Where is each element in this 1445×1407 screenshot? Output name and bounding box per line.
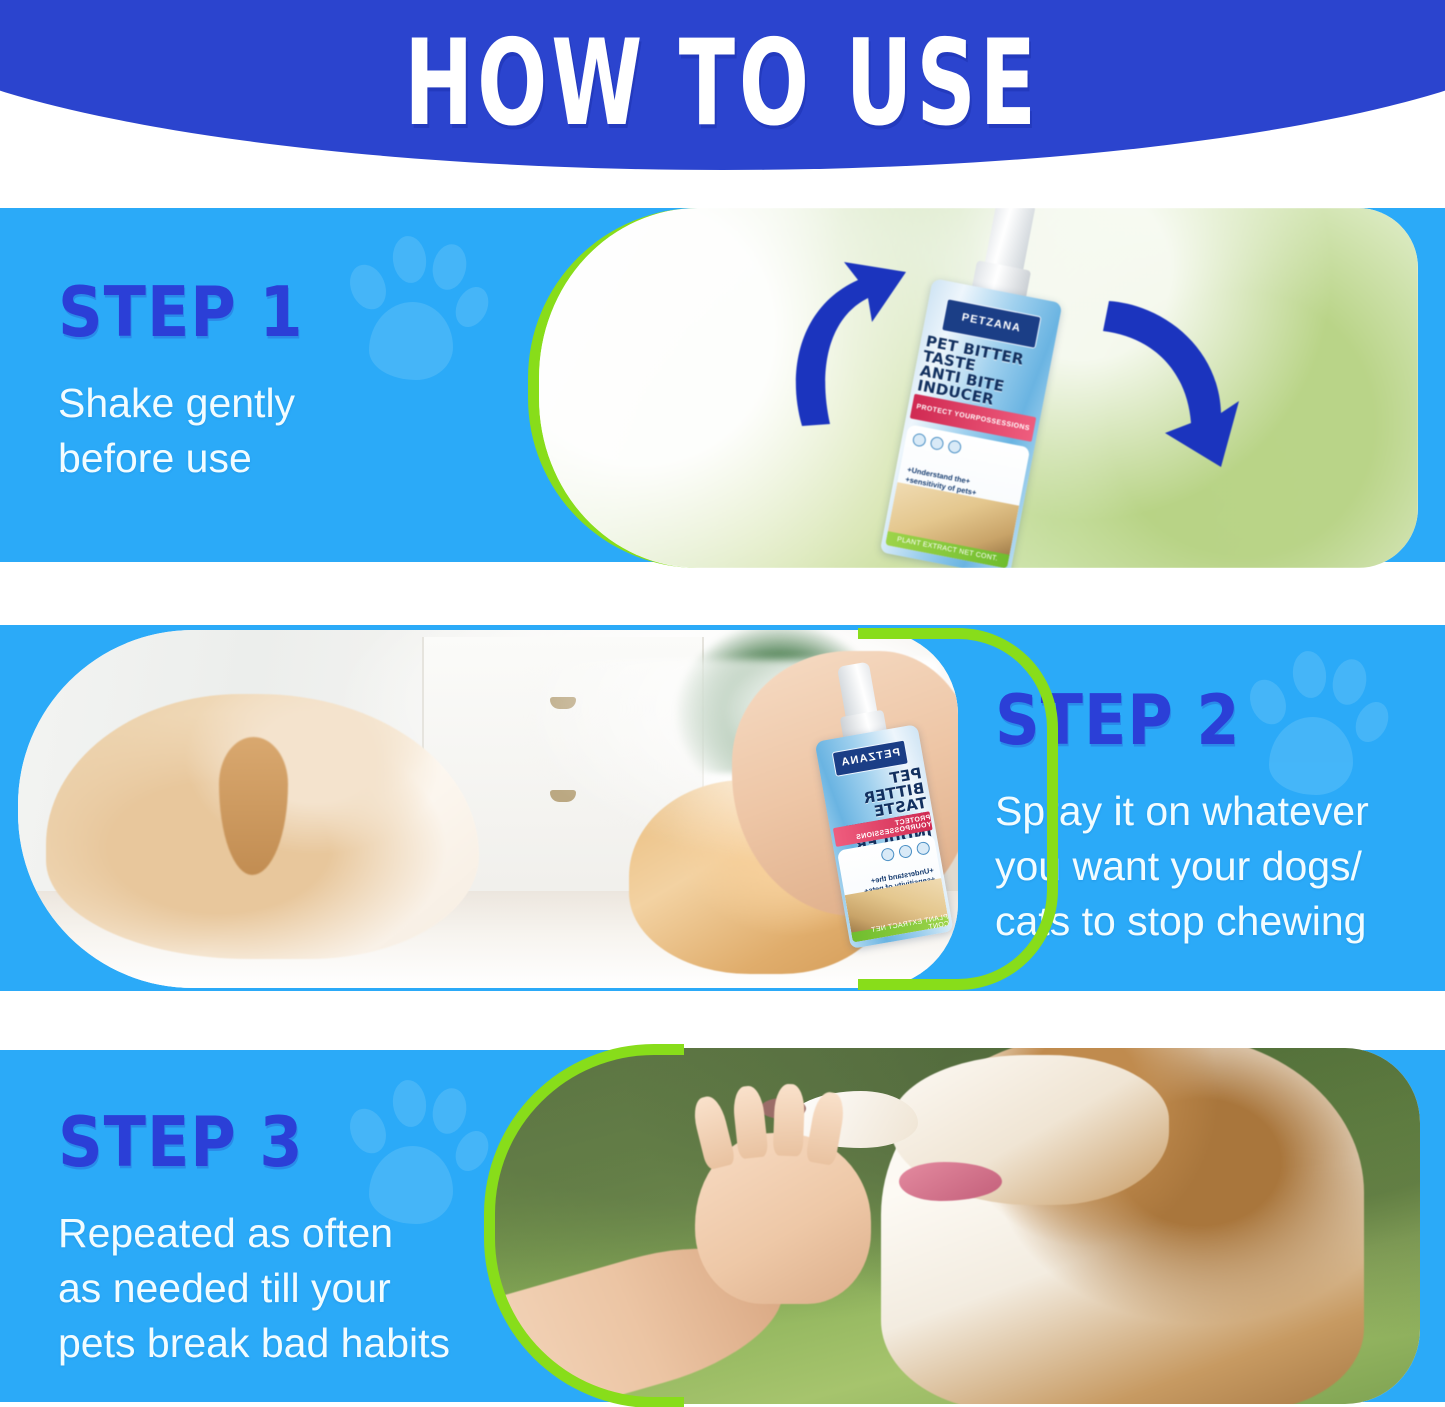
label-feature-icons <box>880 841 931 862</box>
finger <box>690 1093 737 1170</box>
finger <box>732 1084 769 1159</box>
human-hand <box>695 1133 872 1304</box>
step-3-photo <box>490 1048 1420 1404</box>
infographic-page: HOW TO USE STEP 1 Shake gently before us… <box>0 0 1445 1407</box>
feature-icon-2 <box>898 844 913 859</box>
feature-icon-3 <box>880 847 895 862</box>
step-1-photo-background: PETZANA PET BITTER TASTE ANTI BITE INDUC… <box>539 208 1418 568</box>
dog-ear <box>219 737 288 875</box>
label-feature-icons <box>912 433 963 455</box>
header-title-container: HOW TO USE <box>0 0 1445 175</box>
finger <box>773 1083 806 1156</box>
step-3-heading: STEP 3 <box>58 1108 508 1177</box>
feature-icon-2 <box>930 436 945 451</box>
feature-icon-3 <box>947 440 962 455</box>
product-bottle: PETZANA PET BITTER TASTE ANTI BITE INDUC… <box>880 208 1081 568</box>
step-2-photo: PETZANA PET BITTER TASTE ANTI BITE INDUC… <box>18 630 958 988</box>
feature-icon-1 <box>912 433 927 448</box>
arrow-down-right-icon <box>1099 293 1239 473</box>
step-1-heading: STEP 1 <box>58 278 488 347</box>
step-3-photo-background <box>490 1048 1420 1404</box>
step-2-photo-background: PETZANA PET BITTER TASTE ANTI BITE INDUC… <box>18 630 958 988</box>
step-2-heading: STEP 2 <box>995 686 1435 755</box>
beagle-dog <box>46 694 478 959</box>
step-2-body: Spray it on whatever you want your dogs/… <box>995 784 1435 949</box>
feature-icon-1 <box>916 841 931 856</box>
step-1-photo: PETZANA PET BITTER TASTE ANTI BITE INDUC… <box>528 208 1418 568</box>
step-1-text-block: STEP 1 Shake gently before use <box>58 278 488 486</box>
page-title: HOW TO USE <box>405 24 1041 151</box>
label-lower-panel: +Understand the+ +sensitivity of pets+ P… <box>885 424 1030 568</box>
step-3-text-block: STEP 3 Repeated as often as needed till … <box>58 1108 508 1371</box>
arrow-up-left-icon <box>784 258 914 433</box>
bottle-body: PETZANA PET BITTER TASTE ANTI BITE INDUC… <box>880 278 1063 568</box>
step-1-body: Shake gently before use <box>58 376 488 486</box>
label-lower-panel: +Understand the+ +sensitivity of pets+ P… <box>837 834 949 942</box>
step-3-body: Repeated as often as needed till your pe… <box>58 1206 508 1371</box>
step-2-text-block: STEP 2 Spray it on whatever you want you… <box>995 686 1435 949</box>
